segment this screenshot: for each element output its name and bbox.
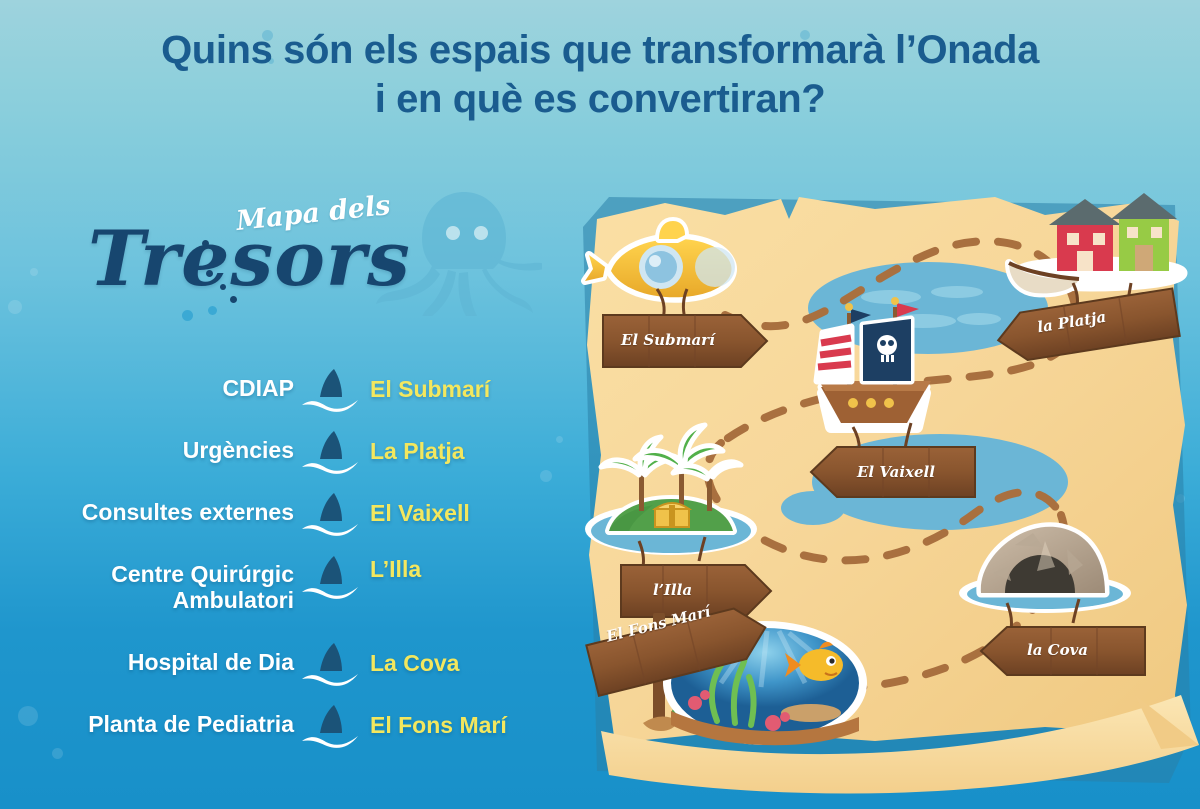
legend-row[interactable]: Consultes externes El Vaixell bbox=[0, 482, 600, 544]
legend-list: CDIAP El Submarí Urgències La Platja Con… bbox=[0, 358, 600, 756]
legend-treasure-label: El Fons Marí bbox=[362, 712, 600, 739]
legend-row[interactable]: CDIAP El Submarí bbox=[0, 358, 600, 420]
legend-row[interactable]: Planta de Pediatria El Fons Marí bbox=[0, 694, 600, 756]
shark-fin-icon bbox=[300, 701, 362, 749]
logo-dot bbox=[208, 306, 217, 315]
shark-fin-icon bbox=[300, 365, 362, 413]
logo-dot bbox=[220, 284, 226, 290]
legend-treasure-label: El Submarí bbox=[362, 376, 600, 403]
legend-space-label: Planta de Pediatria bbox=[0, 712, 300, 738]
legend-space-label: Centre Quirúrgic Ambulatori bbox=[0, 562, 300, 614]
signpost-el-vaixell bbox=[811, 447, 975, 497]
legend-space-label: CDIAP bbox=[0, 376, 300, 402]
signpost-la-cova bbox=[981, 627, 1145, 675]
treasure-map-canvas bbox=[575, 175, 1200, 800]
legend-treasure-label: L’Illa bbox=[362, 556, 600, 583]
page-title-line-2: i en què es convertiran? bbox=[0, 75, 1200, 124]
logo-dot bbox=[202, 240, 209, 247]
logo-dot bbox=[182, 310, 193, 321]
legend-space-label: Hospital de Dia bbox=[0, 650, 300, 676]
shark-fin-icon bbox=[300, 427, 362, 475]
signpost-el-submari bbox=[603, 315, 767, 367]
shark-fin-icon bbox=[300, 639, 362, 687]
legend-treasure-label: La Cova bbox=[362, 650, 600, 677]
logo-dot bbox=[230, 296, 237, 303]
legend-panel: Tresors Mapa dels CDIAP El Submarí Urgèn… bbox=[0, 170, 600, 790]
legend-row[interactable]: Urgències La Platja bbox=[0, 420, 600, 482]
legend-treasure-label: La Platja bbox=[362, 438, 600, 465]
logo-dot bbox=[206, 270, 213, 277]
legend-row[interactable]: Centre Quirúrgic Ambulatori L’Illa bbox=[0, 544, 600, 632]
brand-logo: Tresors Mapa dels bbox=[60, 180, 560, 320]
legend-row[interactable]: Hospital de Dia La Cova bbox=[0, 632, 600, 694]
signpost-l-illa bbox=[621, 565, 771, 617]
shark-fin-icon bbox=[300, 489, 362, 537]
legend-space-label: Consultes externes bbox=[0, 500, 300, 526]
page-title-line-1: Quins són els espais que transformarà l’… bbox=[161, 28, 1039, 72]
logo-dot bbox=[214, 254, 220, 260]
page-title: Quins són els espais que transformarà l’… bbox=[0, 26, 1200, 124]
shark-fin-icon bbox=[300, 552, 362, 600]
legend-treasure-label: El Vaixell bbox=[362, 500, 600, 527]
treasure-map[interactable]: El Submarí la Platja El Vaixell l’Illa l… bbox=[575, 175, 1200, 800]
legend-space-label: Urgències bbox=[0, 438, 300, 464]
